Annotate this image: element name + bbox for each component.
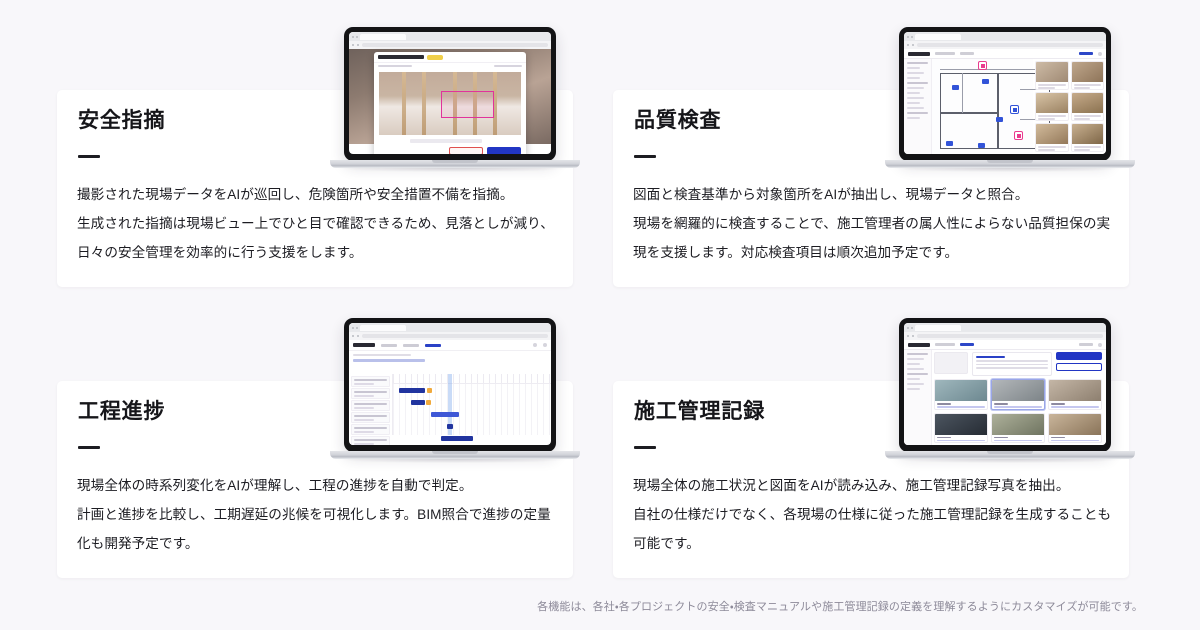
photo-thumbnail [1036, 124, 1068, 144]
record-meta [1049, 401, 1101, 410]
app-workspace [904, 350, 1106, 445]
gantt-bar[interactable] [447, 424, 453, 429]
record-line [937, 406, 985, 408]
photo-card[interactable] [1035, 61, 1069, 90]
record-label [937, 437, 951, 439]
record-actions[interactable] [1056, 352, 1102, 376]
window-dot-icon [352, 36, 354, 38]
sidebar-heading [907, 82, 928, 84]
inspection-marker-blue[interactable] [1010, 105, 1019, 114]
photo-thumbnail [1072, 93, 1104, 113]
laptop-lid [899, 318, 1111, 452]
laptop-screen [349, 32, 551, 154]
browser-chrome [349, 32, 551, 41]
record-line [937, 440, 985, 442]
app-header-bar [904, 340, 1106, 350]
timber-beam [422, 72, 426, 135]
title-underline-rule [78, 155, 100, 158]
task-name [354, 379, 387, 381]
task-name [354, 403, 387, 405]
app-workspace [904, 59, 1106, 154]
record-label [994, 437, 1008, 439]
meta-line [1038, 87, 1055, 89]
meta-line [1038, 118, 1055, 120]
sidebar-row [907, 388, 920, 390]
record-card[interactable] [934, 379, 988, 410]
record-label [1051, 437, 1065, 439]
sidebar-row [907, 363, 920, 365]
card-title: 工程進捗 [78, 401, 165, 422]
sidebar-row [907, 368, 924, 370]
avatar[interactable] [1098, 52, 1102, 56]
laptop-screen [904, 32, 1106, 154]
photo-meta [1072, 113, 1104, 121]
sidebar-row [907, 107, 924, 109]
gantt-task-row[interactable] [351, 412, 390, 423]
meta-line [353, 354, 411, 356]
inspection-chip[interactable] [982, 79, 989, 84]
detected-site-photo [379, 72, 521, 135]
photo-thumbnail [1072, 62, 1104, 82]
app-workspace [349, 49, 551, 144]
back-arrow-icon [907, 335, 909, 337]
laptop-shadow [338, 168, 572, 172]
modal-header [374, 52, 526, 63]
gantt-bar[interactable] [411, 400, 425, 405]
record-label [1051, 403, 1065, 405]
record-photo-grid[interactable] [934, 379, 1102, 443]
sidebar-row [907, 383, 924, 385]
browser-tab [360, 34, 406, 40]
inspection-sidebar[interactable] [904, 59, 932, 154]
back-arrow-icon [352, 44, 354, 46]
task-sub [354, 419, 374, 421]
laptop-base [330, 451, 580, 459]
toolbar-tab[interactable] [381, 344, 397, 347]
task-name [354, 439, 387, 441]
window-dot-icon [907, 327, 909, 329]
record-meta [1049, 435, 1101, 444]
inspection-marker-pink[interactable] [1014, 131, 1023, 140]
browser-tab [915, 325, 961, 331]
record-line [994, 406, 1042, 408]
toolbar-icon[interactable] [533, 343, 537, 347]
sidebar-heading [907, 353, 928, 355]
photo-card[interactable] [1071, 123, 1105, 152]
record-sidebar[interactable] [904, 350, 932, 445]
photo-card[interactable] [1035, 92, 1069, 121]
record-meta [992, 401, 1044, 410]
back-arrow-icon [907, 44, 909, 46]
laptop-shadow [893, 459, 1127, 463]
meta-line-highlight [353, 359, 425, 361]
record-meta [992, 435, 1044, 444]
sidebar-row [907, 102, 920, 104]
photo-card[interactable] [1035, 123, 1069, 152]
photo-card[interactable] [1071, 61, 1105, 90]
secondary-action-button[interactable] [449, 147, 483, 154]
laptop-mockup-schedule [330, 318, 580, 468]
avatar[interactable] [1098, 343, 1102, 347]
primary-action-button[interactable] [487, 147, 521, 154]
record-card[interactable] [1048, 413, 1102, 444]
marker-glyph-icon [981, 64, 985, 68]
browser-chrome [904, 323, 1106, 332]
inspection-marker-pink[interactable] [978, 61, 987, 70]
inspection-photo-grid[interactable] [1033, 59, 1106, 154]
sidebar-heading [907, 62, 928, 64]
laptop-shadow [893, 168, 1127, 172]
laptop-base [885, 451, 1135, 459]
marker-glyph-icon [1013, 108, 1017, 112]
gantt-bar[interactable] [431, 412, 459, 417]
task-name [354, 427, 387, 429]
nav-item-active[interactable] [960, 343, 974, 346]
window-dot-icon [356, 327, 358, 329]
task-sub [354, 431, 374, 433]
window-dot-icon [352, 327, 354, 329]
sidebar-row [907, 72, 924, 74]
photo-meta [1036, 144, 1068, 152]
task-sub [354, 383, 374, 385]
app-logo [353, 343, 375, 347]
timber-beam [402, 72, 406, 135]
laptop-shadow [338, 459, 572, 463]
laptop-mockup-record [885, 318, 1135, 468]
forward-arrow-icon [912, 335, 914, 337]
laptop-base [330, 160, 580, 168]
inspection-chip[interactable] [978, 143, 985, 148]
alert-severity-badge [427, 55, 443, 60]
record-card[interactable] [934, 413, 988, 444]
browser-tab [915, 34, 961, 40]
card-description: 現場全体の施工状況と図面をAIが読み込み、施工管理記録写真を抽出。 自社の仕様だ… [633, 471, 1113, 558]
app-logo [908, 52, 930, 56]
laptop-screen [904, 323, 1106, 445]
laptop-lid [899, 27, 1111, 161]
url-field [917, 43, 1103, 47]
app-header-bar [904, 49, 1106, 59]
url-field [917, 334, 1103, 338]
gantt-task-row[interactable] [351, 376, 390, 387]
modal-action-row [449, 147, 521, 154]
task-name [354, 391, 387, 393]
record-photo [992, 414, 1044, 435]
features-page: 安全指摘 撮影された現場データをAIが巡回し、危険箇所や安全措置不備を指摘。 生… [0, 0, 1200, 630]
floorplan-thumbnail[interactable] [934, 352, 968, 374]
photo-meta [1036, 113, 1068, 121]
record-line [994, 440, 1042, 442]
forward-arrow-icon [912, 44, 914, 46]
laptop-base [885, 160, 1135, 168]
modal-title-placeholder [378, 55, 424, 59]
sidebar-row [907, 117, 920, 119]
gantt-bar[interactable] [399, 388, 425, 393]
task-sub [354, 395, 374, 397]
marker-glyph-icon [1017, 134, 1021, 138]
card-title: 品質検査 [634, 110, 721, 131]
gantt-bar[interactable] [441, 436, 473, 441]
meta-line [1074, 115, 1102, 117]
meta-line [1038, 115, 1066, 117]
inspection-chip[interactable] [952, 85, 959, 90]
gantt-date-header [393, 374, 551, 384]
note-title [976, 356, 1005, 358]
browser-address-bar [349, 332, 551, 340]
record-summary-panel [934, 352, 1102, 376]
record-label [937, 403, 951, 405]
toolbar-tab-active[interactable] [425, 344, 441, 347]
footnote: 各機能は、各社・各プロジェクトの安全・検査マニュアルや施工管理記録の定義を理解す… [537, 598, 1143, 614]
url-field [362, 43, 548, 47]
record-line [1051, 440, 1099, 442]
gantt-task-row[interactable] [351, 388, 390, 399]
inspection-chip[interactable] [946, 141, 953, 146]
card-description: 図面と検査基準から対象箇所をAIが抽出し、現場データと照合。 現場を網羅的に検査… [633, 180, 1113, 267]
export-button[interactable] [1056, 352, 1102, 360]
sidebar-heading [907, 112, 928, 114]
meta-line [1074, 84, 1102, 86]
photo-card[interactable] [1071, 92, 1105, 121]
schedule-meta [349, 351, 551, 368]
sidebar-row [907, 97, 924, 99]
laptop-lid [344, 318, 556, 452]
ai-detection-bounding-box [441, 91, 494, 118]
room-outline [940, 73, 998, 113]
laptop-lid [344, 27, 556, 161]
gantt-timeline[interactable] [393, 374, 551, 435]
record-photo [935, 380, 987, 401]
photo-meta [1036, 82, 1068, 90]
browser-chrome [349, 323, 551, 332]
meta-line [1074, 118, 1091, 120]
gantt-task-row[interactable] [351, 436, 390, 445]
record-card[interactable] [1048, 379, 1102, 410]
sidebar-row [907, 67, 920, 69]
card-title: 施工管理記録 [634, 401, 765, 422]
note-line [976, 364, 1048, 366]
plan-partition [962, 73, 963, 113]
gantt-chart[interactable] [349, 374, 551, 435]
alert-detail-modal [374, 52, 526, 154]
floorplan-canvas[interactable] [932, 59, 1033, 154]
photo-meta [1072, 144, 1104, 152]
app-workspace [349, 340, 551, 435]
record-card-selected[interactable] [991, 379, 1045, 410]
modal-comment-field [410, 139, 482, 143]
browser-chrome [904, 32, 1106, 41]
url-field [362, 334, 548, 338]
inspection-chip[interactable] [996, 117, 1003, 122]
record-photo [992, 380, 1044, 401]
record-photo [1049, 380, 1101, 401]
laptop-screen [349, 323, 551, 445]
note-line [976, 367, 1048, 369]
laptop-mockup-safety [330, 27, 580, 177]
meta-line [1074, 149, 1091, 151]
modal-meta-right [494, 65, 522, 67]
window-dot-icon [911, 36, 913, 38]
title-underline-rule [78, 446, 100, 449]
nav-action-highlight[interactable] [1079, 52, 1093, 55]
meta-line [1038, 146, 1066, 148]
card-description: 現場全体の時系列変化をAIが理解し、工程の進捗を自動で判定。 計画と進捗を比較し… [77, 471, 557, 558]
note-line [976, 360, 1048, 362]
record-photo [1049, 414, 1101, 435]
record-summary-note [972, 352, 1052, 376]
laptop-mockup-quality [885, 27, 1135, 177]
meta-line [1074, 87, 1091, 89]
gantt-task-row[interactable] [351, 424, 390, 435]
record-label [994, 403, 1008, 405]
nav-item[interactable] [1079, 343, 1093, 346]
forward-arrow-icon [357, 335, 359, 337]
sidebar-heading [907, 373, 928, 375]
photo-thumbnail [1072, 124, 1104, 144]
modal-subheader [374, 63, 526, 69]
meta-line [1074, 146, 1102, 148]
window-dot-icon [907, 36, 909, 38]
sidebar-row [907, 378, 920, 380]
record-photo [935, 414, 987, 435]
sidebar-row [907, 358, 924, 360]
window-dot-icon [356, 36, 358, 38]
nav-item[interactable] [935, 343, 955, 346]
sidebar-row [907, 77, 920, 79]
app-logo [908, 343, 930, 347]
record-meta [935, 401, 987, 410]
browser-address-bar [904, 41, 1106, 49]
toolbar-icon[interactable] [543, 343, 547, 347]
gantt-bar-warning[interactable] [427, 388, 432, 393]
gantt-task-list[interactable] [349, 374, 393, 435]
back-arrow-icon [352, 335, 354, 337]
browser-address-bar [349, 41, 551, 49]
task-name [354, 415, 387, 417]
gantt-bar-warning[interactable] [426, 400, 431, 405]
secondary-export-button[interactable] [1056, 363, 1102, 371]
browser-tab [360, 325, 406, 331]
nav-item[interactable] [935, 52, 955, 55]
task-sub [354, 407, 374, 409]
title-underline-rule [634, 446, 656, 449]
card-title: 安全指摘 [78, 110, 165, 131]
modal-meta-left [378, 65, 412, 67]
photo-thumbnail [1036, 93, 1068, 113]
sidebar-row [907, 92, 920, 94]
record-card[interactable] [991, 413, 1045, 444]
record-line [1051, 406, 1099, 408]
photo-meta [1072, 82, 1104, 90]
browser-address-bar [904, 332, 1106, 340]
meta-line [1038, 149, 1055, 151]
toolbar-tab[interactable] [403, 344, 419, 347]
sidebar-row [907, 87, 924, 89]
record-meta [935, 435, 987, 444]
task-sub [354, 443, 374, 445]
gantt-task-row[interactable] [351, 400, 390, 411]
forward-arrow-icon [357, 44, 359, 46]
meta-line [1038, 84, 1066, 86]
card-description: 撮影された現場データをAIが巡回し、危険箇所や安全措置不備を指摘。 生成された指… [77, 180, 557, 267]
nav-item[interactable] [960, 52, 974, 55]
schedule-toolbar[interactable] [349, 340, 551, 351]
title-underline-rule [634, 155, 656, 158]
photo-thumbnail [1036, 62, 1068, 82]
window-dot-icon [911, 327, 913, 329]
